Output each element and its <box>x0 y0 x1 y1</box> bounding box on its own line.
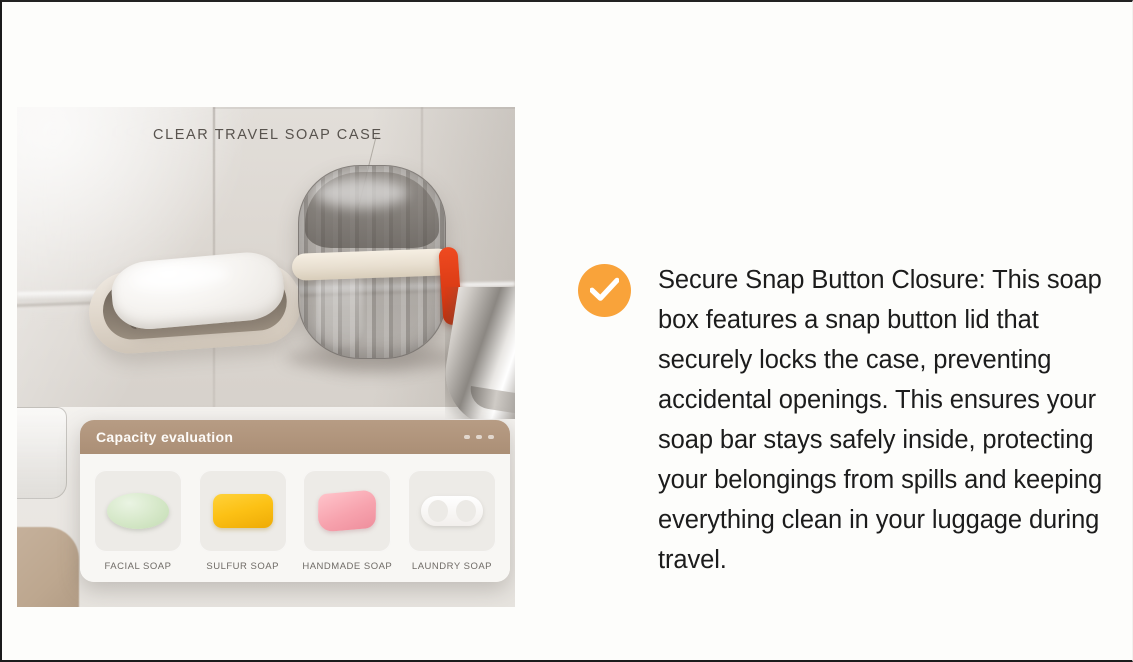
soap-swatch-tile <box>408 470 496 552</box>
glass-cup <box>17 407 67 499</box>
product-feature-page: CLEAR TRAVEL SOAP CASE <box>0 0 1133 662</box>
feature-bullet: Secure Snap Button Closure: This soap bo… <box>578 260 1118 580</box>
facial-soap-shape <box>107 493 169 529</box>
soap-item-sulfur: SULFUR SOAP <box>199 470 287 572</box>
soap-item-label: SULFUR SOAP <box>206 561 279 572</box>
soap-item-label: LAUNDRY SOAP <box>412 561 492 572</box>
soap-item-laundry: LAUNDRY SOAP <box>408 470 496 572</box>
soap-swatch-tile <box>303 470 391 552</box>
chrome-faucet <box>445 287 515 419</box>
product-image[interactable]: CLEAR TRAVEL SOAP CASE <box>17 107 515 607</box>
tan-foreground-object <box>17 527 79 607</box>
check-circle-icon <box>578 264 631 317</box>
case-cream-band <box>292 248 453 281</box>
handmade-soap-shape <box>318 489 376 532</box>
capacity-card-body: FACIAL SOAP SULFUR SOAP HANDMADE SOAP <box>80 454 510 582</box>
soap-item-facial: FACIAL SOAP <box>94 470 182 572</box>
capacity-card-title: Capacity evaluation <box>96 429 233 445</box>
capacity-evaluation-card: Capacity evaluation FACIAL SOAP SULFUR <box>80 420 510 582</box>
capacity-card-header: Capacity evaluation <box>80 420 510 454</box>
soap-swatch-tile <box>199 470 287 552</box>
clear-travel-soap-case <box>298 165 446 359</box>
tile-seam-horizontal <box>213 107 515 109</box>
soap-item-handmade: HANDMADE SOAP <box>303 470 391 572</box>
soap-item-label: HANDMADE SOAP <box>302 561 392 572</box>
soap-dish <box>86 260 303 357</box>
three-dots-icon[interactable] <box>464 435 494 439</box>
soap-item-label: FACIAL SOAP <box>105 561 172 572</box>
sulfur-soap-shape <box>213 494 273 528</box>
laundry-soap-shape <box>421 496 483 526</box>
photo-headline-label: CLEAR TRAVEL SOAP CASE <box>153 127 383 143</box>
case-lid-highlight <box>315 178 407 208</box>
soap-swatch-tile <box>94 470 182 552</box>
feature-bullet-text: Secure Snap Button Closure: This soap bo… <box>658 260 1118 580</box>
